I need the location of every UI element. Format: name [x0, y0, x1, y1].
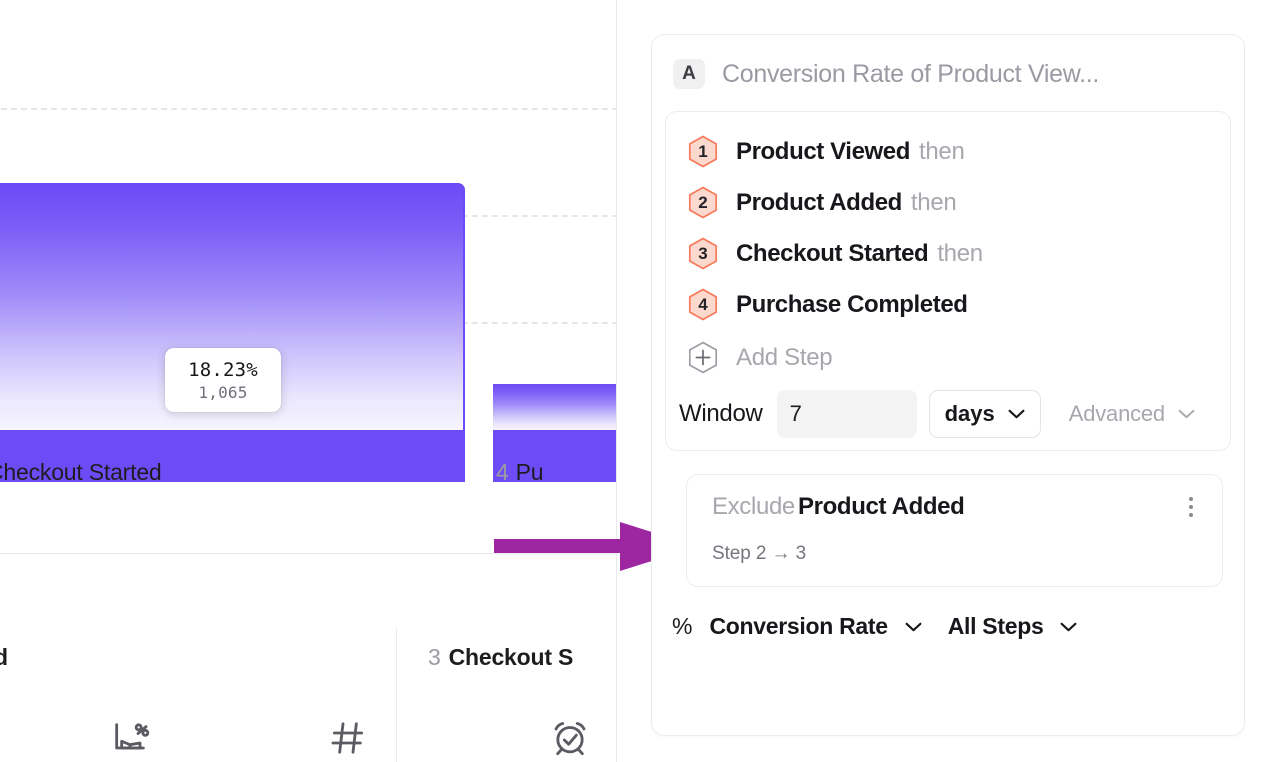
x-axis-name: Pu [516, 459, 544, 485]
dot [1189, 513, 1193, 517]
exclude-rule-title: ExcludeProduct Added [712, 493, 965, 521]
step-connector: then [919, 138, 965, 165]
panel-header: A Conversion Rate of Product View... [652, 35, 1244, 111]
steps-scope-value: All Steps [948, 613, 1044, 640]
step-label: Checkout Startedthen [736, 240, 983, 268]
tooltip-percent: 18.23% [188, 359, 258, 381]
funnel-step-2[interactable]: 2 Product Addedthen [666, 177, 1230, 228]
step-label: Purchase Completed [736, 291, 977, 319]
step-number: 1 [688, 135, 718, 168]
step-label: Product Addedthen [736, 189, 956, 217]
chevron-down-icon [1060, 622, 1077, 632]
exclude-rule-header: ExcludeProduct Added [712, 493, 1202, 521]
alarm-check-icon[interactable] [550, 718, 590, 758]
x-axis-label-checkout-started: Checkout Started [0, 459, 162, 486]
chevron-down-icon [1008, 409, 1025, 419]
step-event-name: Product Added [736, 189, 902, 216]
add-step-button[interactable]: Add Step [666, 330, 1230, 380]
funnel-step-3[interactable]: 3 Checkout Startedthen [666, 228, 1230, 279]
metric-type-select[interactable]: Conversion Rate [709, 613, 921, 640]
x-axis-index: 4 [496, 459, 509, 485]
step-number: 4 [688, 288, 718, 321]
step-number-hexagon-icon: 1 [688, 135, 718, 168]
window-unit-select[interactable]: days [929, 390, 1041, 438]
series-letter-badge: A [673, 59, 705, 89]
panel-title[interactable]: Conversion Rate of Product View... [722, 60, 1099, 89]
add-step-label: Add Step [736, 344, 832, 372]
gridline-1 [0, 108, 617, 110]
window-unit-value: days [945, 401, 995, 427]
advanced-toggle[interactable]: Advanced [1069, 401, 1195, 427]
step-event-name: Product Viewed [736, 138, 910, 165]
funnel-step-4[interactable]: 4 Purchase Completed [666, 279, 1230, 330]
exclude-rule-range: Step 2 → 3 [712, 543, 1202, 565]
metric-name: d [0, 644, 8, 670]
step-event-name: Purchase Completed [736, 291, 968, 318]
step-connector: then [911, 189, 957, 216]
metric-card-title-1: d [0, 644, 8, 671]
advanced-label: Advanced [1069, 401, 1165, 427]
funnel-steps-card: 1 Product Viewedthen 2 Product Addedthen [665, 111, 1231, 451]
x-axis-name: Checkout Started [0, 459, 162, 485]
dot [1189, 505, 1193, 509]
step-connector: then [937, 240, 983, 267]
step-number-hexagon-icon: 4 [688, 288, 718, 321]
x-axis-label-purchase-completed: 4Pu [496, 459, 543, 486]
panel-footer: % Conversion Rate All Steps [652, 587, 1244, 640]
step-number: 3 [688, 237, 718, 270]
funnel-step-1[interactable]: 1 Product Viewedthen [666, 126, 1230, 177]
steps-scope-select[interactable]: All Steps [948, 613, 1078, 640]
metric-cards-row: d 3Checkout S [0, 554, 617, 762]
app-root: Checkout Started 4Pu 18.23% 1,065 d [0, 0, 1264, 762]
exclude-keyword: Exclude [712, 493, 795, 520]
percent-icon: % [672, 613, 692, 640]
bar-group-purchase-completed[interactable] [493, 384, 617, 430]
exclude-event-name: Product Added [798, 493, 965, 520]
funnel-chart: Checkout Started 4Pu [0, 0, 617, 554]
window-value-input[interactable] [777, 390, 917, 438]
funnel-config-panel: A Conversion Rate of Product View... 1 P… [651, 34, 1245, 736]
step-number-hexagon-icon: 3 [688, 237, 718, 270]
hash-icon[interactable] [328, 718, 368, 758]
exclude-rule-card[interactable]: ExcludeProduct Added Step 2 → 3 [686, 474, 1223, 587]
metric-index: 3 [428, 644, 441, 670]
step-number-hexagon-icon: 2 [688, 186, 718, 219]
chart-tooltip: 18.23% 1,065 [165, 348, 281, 412]
vertical-divider-main [616, 0, 617, 762]
dot [1189, 497, 1193, 501]
more-options-icon[interactable] [1180, 493, 1202, 521]
conversion-window-row: Window days Advanced [666, 380, 1230, 438]
bar-fill [493, 384, 617, 430]
window-label: Window [679, 400, 763, 428]
plus-hexagon-icon [688, 341, 718, 374]
step-event-name: Checkout Started [736, 240, 928, 267]
chevron-down-icon [905, 622, 922, 632]
chevron-down-icon [1178, 409, 1195, 419]
step-number: 2 [688, 186, 718, 219]
percent-chart-icon[interactable] [110, 718, 150, 758]
tooltip-count: 1,065 [198, 383, 247, 402]
funnel-chart-pane: Checkout Started 4Pu 18.23% 1,065 d [0, 0, 617, 762]
metric-type-value: Conversion Rate [709, 613, 887, 640]
metric-name: Checkout S [449, 644, 574, 670]
metric-card-title-2: 3Checkout S [428, 644, 573, 671]
vertical-divider-lower [396, 628, 397, 762]
step-label: Product Viewedthen [736, 138, 965, 166]
